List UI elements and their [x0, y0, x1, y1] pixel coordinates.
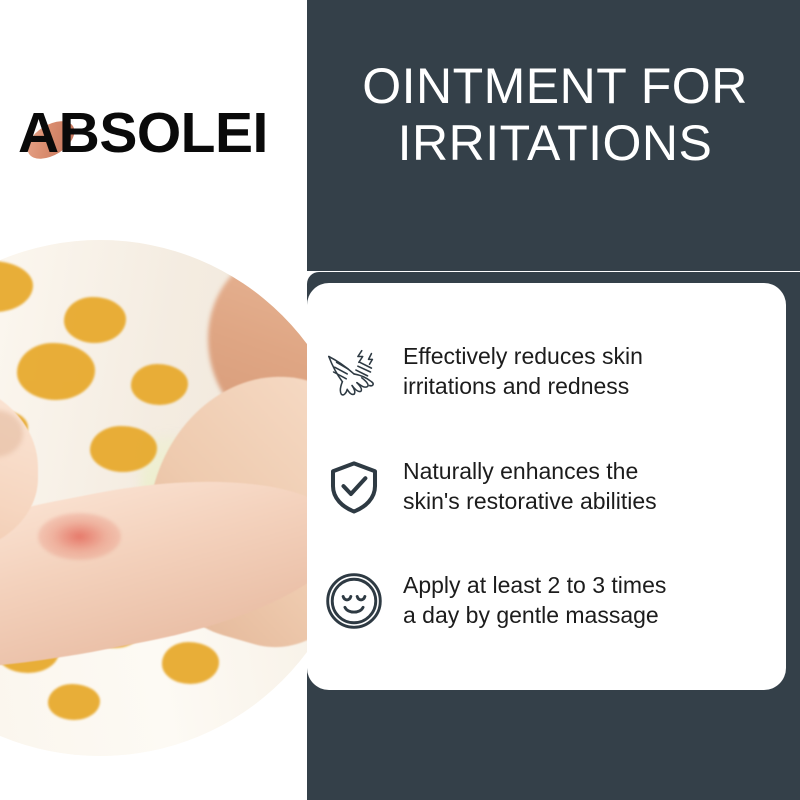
title-line-1: OINTMENT FOR — [325, 58, 785, 115]
brand-name: ABSOLEI — [18, 96, 293, 170]
feature-item-reduces-irritation: Effectively reduces skin irritations and… — [307, 341, 786, 403]
photo-content — [0, 240, 358, 756]
scratching-hands-icon — [323, 341, 385, 403]
flower-motif — [131, 364, 188, 405]
product-banner: ABSOLEI OINTMENT FOR IRRITATIONS — [0, 0, 800, 800]
title-line-2: IRRITATIONS — [325, 115, 785, 172]
flower-motif — [162, 642, 219, 683]
smiling-face-icon — [323, 570, 385, 632]
feature-line-2: skin's restorative abilities — [403, 488, 657, 514]
product-photo — [0, 240, 358, 756]
feature-text: Naturally enhances the skin's restorativ… — [403, 457, 657, 517]
feature-item-restorative: Naturally enhances the skin's restorativ… — [307, 456, 786, 518]
flower-motif — [64, 297, 126, 343]
feature-text: Apply at least 2 to 3 times a day by gen… — [403, 571, 666, 631]
feature-item-application: Apply at least 2 to 3 times a day by gen… — [307, 570, 786, 632]
flower-motif — [48, 684, 100, 720]
feature-list: Effectively reduces skin irritations and… — [307, 283, 786, 690]
features-card: Effectively reduces skin irritations and… — [307, 283, 786, 690]
flower-motif — [90, 426, 157, 472]
page-title: OINTMENT FOR IRRITATIONS — [325, 58, 785, 172]
brand-logo[interactable]: ABSOLEI — [18, 96, 293, 170]
feature-line-2: a day by gentle massage — [403, 602, 659, 628]
feature-line-1: Apply at least 2 to 3 times — [403, 572, 666, 598]
flower-motif — [17, 343, 94, 400]
feature-line-1: Effectively reduces skin — [403, 343, 643, 369]
feature-line-1: Naturally enhances the — [403, 458, 638, 484]
shield-check-icon — [323, 456, 385, 518]
irritation-spot — [38, 513, 121, 559]
feature-line-2: irritations and redness — [403, 373, 629, 399]
feature-text: Effectively reduces skin irritations and… — [403, 342, 643, 402]
